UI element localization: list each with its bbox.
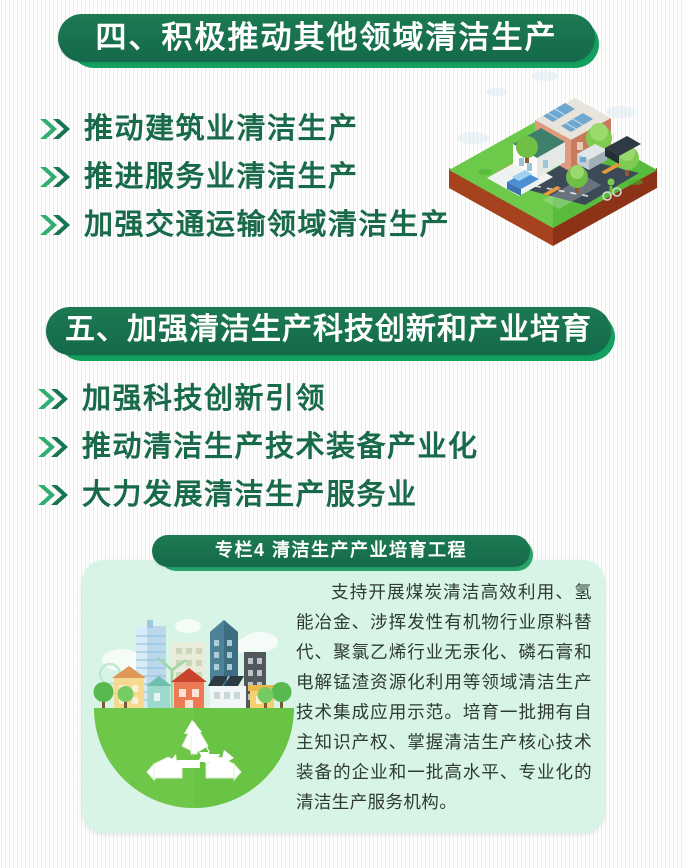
double-chevron-icon xyxy=(38,164,72,190)
section-banner-4-title: 四、积极推动其他领域清洁生产 xyxy=(96,22,558,53)
banner-pill: 四、积极推动其他领域清洁生产 xyxy=(58,14,595,62)
section-banner-5: 五、加强清洁生产科技创新和产业培育 xyxy=(46,307,611,355)
pill-body: 专栏4 清洁生产产业培育工程 xyxy=(152,535,530,567)
double-chevron-icon xyxy=(36,482,70,508)
list-item-label: 加强交通运输领域清洁生产 xyxy=(84,211,450,240)
double-chevron-icon xyxy=(36,434,70,460)
infographic-page: 四、积极推动其他领域清洁生产 推动建筑业清洁生产 推进服务业清洁生产 xyxy=(0,0,685,868)
recycling-green-city-illustration xyxy=(92,582,297,812)
list-item: 推动清洁生产技术装备产业化 xyxy=(36,428,479,466)
section-banner-5-title: 五、加强清洁生产科技创新和产业培育 xyxy=(65,315,592,345)
list-item: 推动建筑业清洁生产 xyxy=(38,110,450,148)
list-item: 推进服务业清洁生产 xyxy=(38,158,450,196)
section-banner-4: 四、积极推动其他领域清洁生产 xyxy=(58,14,595,62)
column-card-title-pill: 专栏4 清洁生产产业培育工程 xyxy=(152,535,530,567)
column-card: 支持开展煤炭清洁高效利用、氢能冶金、涉挥发性有机物行业原料替代、聚氯乙烯行业无汞… xyxy=(82,560,605,833)
column-card-body: 支持开展煤炭清洁高效利用、氢能冶金、涉挥发性有机物行业原料替代、聚氯乙烯行业无汞… xyxy=(296,578,592,818)
column-card-title: 专栏4 清洁生产产业培育工程 xyxy=(215,541,467,559)
list-item-label: 推动清洁生产技术装备产业化 xyxy=(82,433,479,462)
banner-pill: 五、加强清洁生产科技创新和产业培育 xyxy=(46,307,611,355)
list-item-label: 加强科技创新引领 xyxy=(82,385,326,414)
list-item: 大力发展清洁生产服务业 xyxy=(36,476,479,514)
list-item: 加强交通运输领域清洁生产 xyxy=(38,206,450,244)
double-chevron-icon xyxy=(38,212,72,238)
isometric-eco-city-illustration xyxy=(425,60,680,250)
list-item-label: 推进服务业清洁生产 xyxy=(84,163,359,192)
bullet-list-section-5: 加强科技创新引领 推动清洁生产技术装备产业化 大力发展清洁生产服务业 xyxy=(36,380,479,524)
double-chevron-icon xyxy=(36,386,70,412)
list-item: 加强科技创新引领 xyxy=(36,380,479,418)
double-chevron-icon xyxy=(38,116,72,142)
list-item-label: 大力发展清洁生产服务业 xyxy=(82,481,418,510)
bullet-list-section-4: 推动建筑业清洁生产 推进服务业清洁生产 加强交通运输领域清洁生产 xyxy=(38,110,450,254)
list-item-label: 推动建筑业清洁生产 xyxy=(84,115,359,144)
